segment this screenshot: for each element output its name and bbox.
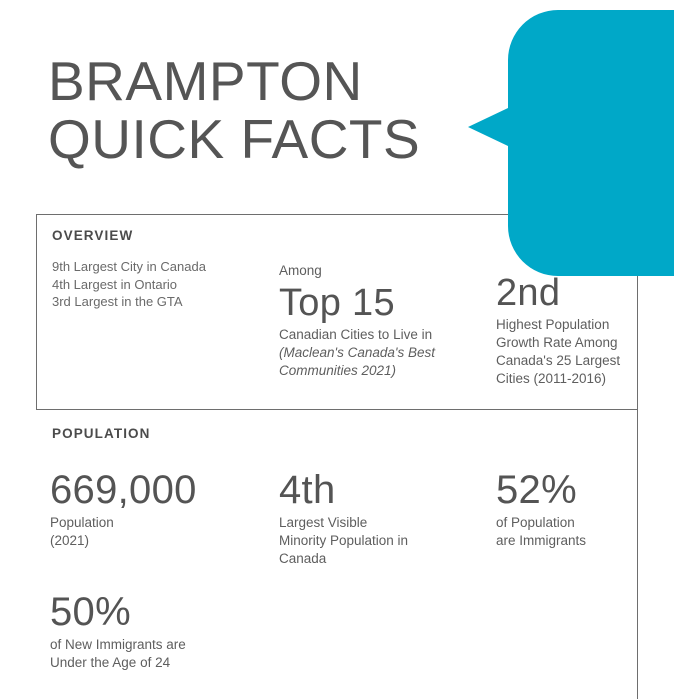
population-immigrant-share-column: 52% of Population are Immigrants [496, 466, 646, 550]
top15-caption-line-1: Canadian Cities to Live in [279, 326, 474, 344]
visible-minority-caption-line-3: Canada [279, 550, 479, 568]
ranking-line-1: 9th Largest City in Canada [52, 258, 267, 276]
visible-minority-value: 4th [279, 466, 479, 514]
population-visible-minority-column: 4th Largest Visible Minority Population … [279, 466, 479, 568]
page-title: BRAMPTON QUICK FACTS [48, 52, 420, 168]
immigrant-share-value: 52% [496, 466, 646, 514]
immigrant-share-caption-line-2: are Immigrants [496, 532, 646, 550]
section-label-population: POPULATION [52, 426, 151, 441]
growth-rank-value: 2nd [496, 270, 656, 316]
population-total-column: 669,000 Population (2021) [50, 466, 270, 550]
growth-caption-line-2: Growth Rate Among [496, 334, 656, 352]
top15-caption: Canadian Cities to Live in (Maclean's Ca… [279, 326, 474, 380]
ranking-line-2: 4th Largest in Ontario [52, 276, 267, 294]
young-immigrants-caption-line-2: Under the Age of 24 [50, 654, 280, 672]
top15-source-line-1: (Maclean's Canada's Best [279, 344, 474, 362]
total-population-caption-line-1: Population [50, 514, 270, 532]
page-title-line-2: QUICK FACTS [48, 110, 420, 168]
page-title-line-1: BRAMPTON [48, 52, 420, 110]
overview-growth-column: 2nd Highest Population Growth Rate Among… [496, 270, 656, 388]
immigrant-share-caption-line-1: of Population [496, 514, 646, 532]
population-young-immigrants-column: 50% of New Immigrants are Under the Age … [50, 588, 280, 672]
infographic-page: BRAMPTON QUICK FACTS OVERVIEW 9th Larges… [0, 0, 674, 699]
young-immigrants-value: 50% [50, 588, 280, 636]
young-immigrants-caption: of New Immigrants are Under the Age of 2… [50, 636, 280, 672]
total-population-caption: Population (2021) [50, 514, 270, 550]
total-population-caption-line-2: (2021) [50, 532, 270, 550]
ranking-line-3: 3rd Largest in the GTA [52, 293, 267, 311]
top15-kicker: Among [279, 261, 474, 280]
growth-caption-line-4: Cities (2011-2016) [496, 370, 656, 388]
growth-caption-line-3: Canada's 25 Largest [496, 352, 656, 370]
visible-minority-caption-line-1: Largest Visible [279, 514, 479, 532]
visible-minority-caption: Largest Visible Minority Population in C… [279, 514, 479, 568]
total-population-value: 669,000 [50, 466, 270, 514]
section-label-overview: OVERVIEW [52, 228, 133, 243]
growth-rank-caption: Highest Population Growth Rate Among Can… [496, 316, 656, 388]
young-immigrants-caption-line-1: of New Immigrants are [50, 636, 280, 654]
immigrant-share-caption: of Population are Immigrants [496, 514, 646, 550]
visible-minority-caption-line-2: Minority Population in [279, 532, 479, 550]
growth-caption-line-1: Highest Population [496, 316, 656, 334]
top15-value: Top 15 [279, 280, 474, 326]
overview-section-divider [36, 409, 638, 410]
overview-rankings-column: 9th Largest City in Canada 4th Largest i… [52, 258, 267, 311]
top15-source-line-2: Communities 2021) [279, 362, 474, 380]
overview-top15-column: Among Top 15 Canadian Cities to Live in … [279, 261, 474, 380]
